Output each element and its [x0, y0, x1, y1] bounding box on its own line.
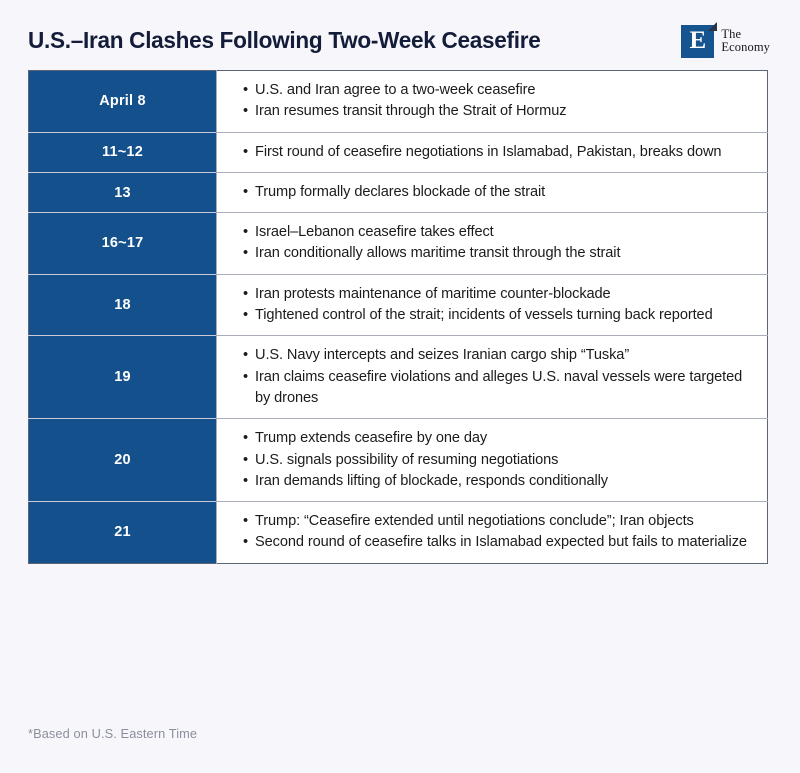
- list-item: Iran protests maintenance of maritime co…: [243, 284, 749, 305]
- events-cell: U.S. Navy intercepts and seizes Iranian …: [217, 336, 768, 419]
- event-list: Iran protests maintenance of maritime co…: [243, 284, 749, 327]
- list-item: Second round of ceasefire talks in Islam…: [243, 532, 749, 553]
- list-item: Iran conditionally allows maritime trans…: [243, 243, 749, 264]
- event-list: Trump extends ceasefire by one dayU.S. s…: [243, 428, 749, 492]
- list-item: Iran resumes transit through the Strait …: [243, 101, 749, 122]
- list-item: Trump: “Ceasefire extended until negotia…: [243, 511, 749, 532]
- event-list: U.S. Navy intercepts and seizes Iranian …: [243, 345, 749, 409]
- event-list: Trump formally declares blockade of the …: [243, 182, 749, 203]
- infographic-page: U.S.–Iran Clashes Following Two-Week Cea…: [0, 0, 800, 773]
- logo-flag-icon: [708, 22, 717, 31]
- date-cell: 18: [29, 274, 217, 336]
- brand-name-line1: The: [721, 28, 770, 42]
- list-item: Iran demands lifting of blockade, respon…: [243, 471, 749, 492]
- date-cell: April 8: [29, 71, 217, 133]
- list-item: Tightened control of the strait; inciden…: [243, 305, 749, 326]
- date-cell: 11~12: [29, 132, 217, 172]
- brand-name-line2: Economy: [721, 41, 770, 55]
- list-item: U.S. signals possibility of resuming neg…: [243, 450, 749, 471]
- list-item: Israel–Lebanon ceasefire takes effect: [243, 222, 749, 243]
- table-row: 13Trump formally declares blockade of th…: [29, 172, 768, 212]
- table-row: April 8U.S. and Iran agree to a two-week…: [29, 71, 768, 133]
- footnote: *Based on U.S. Eastern Time: [28, 726, 197, 741]
- date-cell: 20: [29, 419, 217, 502]
- events-cell: Israel–Lebanon ceasefire takes effectIra…: [217, 213, 768, 275]
- events-cell: Trump formally declares blockade of the …: [217, 172, 768, 212]
- event-list: Israel–Lebanon ceasefire takes effectIra…: [243, 222, 749, 265]
- events-cell: Trump extends ceasefire by one dayU.S. s…: [217, 419, 768, 502]
- events-cell: Trump: “Ceasefire extended until negotia…: [217, 502, 768, 564]
- table-row: 11~12First round of ceasefire negotiatio…: [29, 132, 768, 172]
- date-cell: 21: [29, 502, 217, 564]
- events-cell: Iran protests maintenance of maritime co…: [217, 274, 768, 336]
- date-cell: 13: [29, 172, 217, 212]
- table-row: 16~17Israel–Lebanon ceasefire takes effe…: [29, 213, 768, 275]
- list-item: U.S. Navy intercepts and seizes Iranian …: [243, 345, 749, 366]
- timeline-table-body: April 8U.S. and Iran agree to a two-week…: [29, 71, 768, 564]
- header: U.S.–Iran Clashes Following Two-Week Cea…: [28, 16, 772, 66]
- brand-name: The Economy: [721, 28, 770, 55]
- events-cell: U.S. and Iran agree to a two-week ceasef…: [217, 71, 768, 133]
- list-item: Trump extends ceasefire by one day: [243, 428, 749, 449]
- list-item: First round of ceasefire negotiations in…: [243, 142, 749, 163]
- page-title: U.S.–Iran Clashes Following Two-Week Cea…: [28, 29, 540, 53]
- date-cell: 16~17: [29, 213, 217, 275]
- date-cell: 19: [29, 336, 217, 419]
- list-item: Iran claims ceasefire violations and all…: [243, 367, 749, 410]
- table-row: 20Trump extends ceasefire by one dayU.S.…: [29, 419, 768, 502]
- economy-logo-icon: E: [681, 25, 714, 58]
- brand-logo: E The Economy: [681, 25, 770, 58]
- list-item: Trump formally declares blockade of the …: [243, 182, 749, 203]
- event-list: Trump: “Ceasefire extended until negotia…: [243, 511, 749, 554]
- table-row: 21Trump: “Ceasefire extended until negot…: [29, 502, 768, 564]
- event-list: U.S. and Iran agree to a two-week ceasef…: [243, 80, 749, 123]
- event-list: First round of ceasefire negotiations in…: [243, 142, 749, 163]
- events-cell: First round of ceasefire negotiations in…: [217, 132, 768, 172]
- table-row: 18Iran protests maintenance of maritime …: [29, 274, 768, 336]
- timeline-table: April 8U.S. and Iran agree to a two-week…: [28, 70, 768, 564]
- list-item: U.S. and Iran agree to a two-week ceasef…: [243, 80, 749, 101]
- table-row: 19U.S. Navy intercepts and seizes Irania…: [29, 336, 768, 419]
